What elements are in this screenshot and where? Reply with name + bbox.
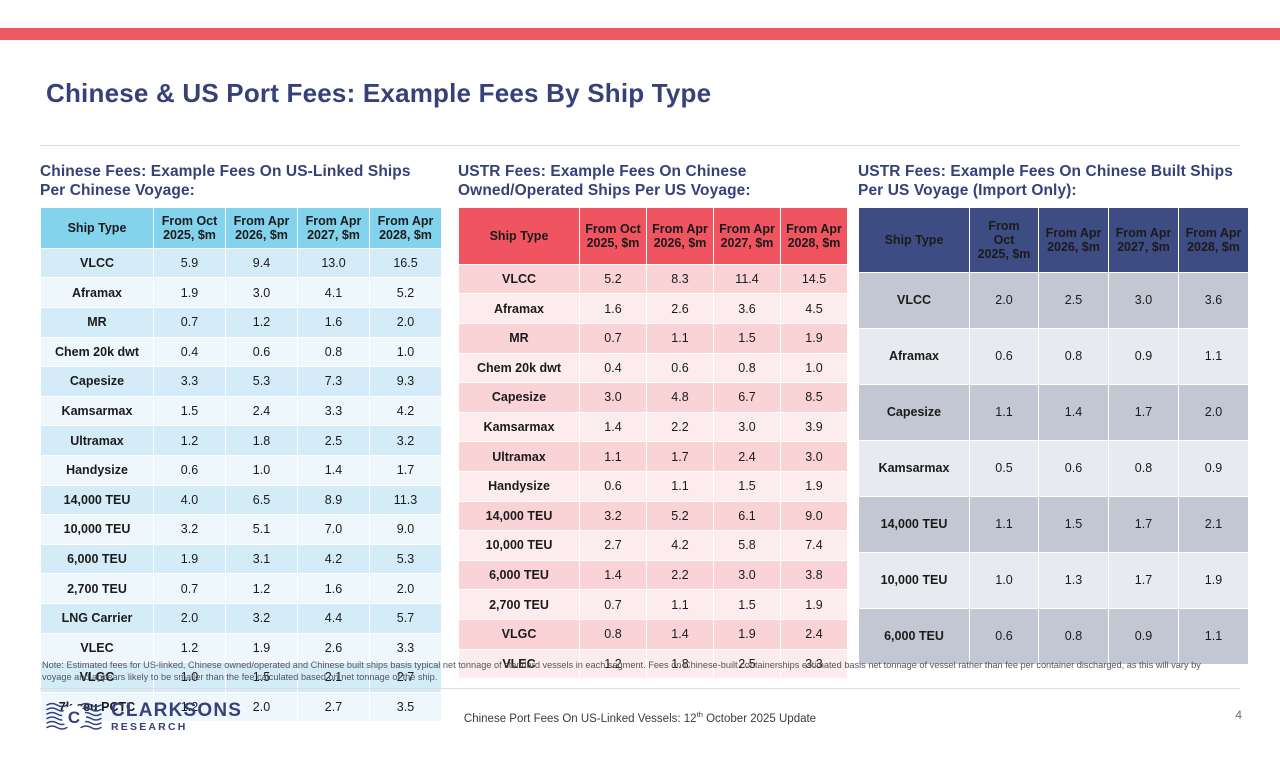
table-heading-chinese-fees: Chinese Fees: Example Fees On US-Linked … xyxy=(40,163,438,201)
cell-fee-0: 0.8 xyxy=(580,620,646,649)
top-accent-bar xyxy=(0,28,1280,40)
cell-fee-2: 3.3 xyxy=(298,397,369,426)
cell-fee-0: 0.7 xyxy=(154,574,225,603)
table-ustr-chinese-built: Ship TypeFromOct2025, $mFrom Apr2026, $m… xyxy=(858,207,1249,665)
cell-ship-type: Kamsarmax xyxy=(859,441,969,496)
table-row: 6,000 TEU1.42.23.03.8 xyxy=(459,561,847,590)
cell-fee-3: 3.2 xyxy=(370,426,441,455)
table-block-ustr-chinese-built: USTR Fees: Example Fees On Chinese Built… xyxy=(858,163,1249,665)
cell-fee-0: 2.0 xyxy=(154,604,225,633)
cell-fee-2: 3.0 xyxy=(714,561,780,590)
cell-fee-2: 3.0 xyxy=(1109,273,1178,328)
cell-fee-1: 0.8 xyxy=(1039,609,1108,664)
column-header-2: From Apr2026, $m xyxy=(1039,208,1108,272)
cell-fee-1: 1.0 xyxy=(226,456,297,485)
table-row: LNG Carrier2.03.24.45.7 xyxy=(41,604,441,633)
column-header-3: From Apr2027, $m xyxy=(298,208,369,248)
table-block-chinese-fees: Chinese Fees: Example Fees On US-Linked … xyxy=(40,163,438,722)
column-header-0: Ship Type xyxy=(459,208,579,264)
cell-ship-type: Kamsarmax xyxy=(41,397,153,426)
table-row: 14,000 TEU1.11.51.72.1 xyxy=(859,497,1248,552)
table-row: VLCC5.99.413.016.5 xyxy=(41,249,441,278)
table-chinese-fees: Ship TypeFrom Oct2025, $mFrom Apr2026, $… xyxy=(40,207,442,723)
cell-ship-type: MR xyxy=(41,308,153,337)
cell-ship-type: LNG Carrier xyxy=(41,604,153,633)
cell-fee-3: 3.6 xyxy=(1179,273,1248,328)
table-row: MR0.71.21.62.0 xyxy=(41,308,441,337)
cell-fee-2: 1.7 xyxy=(1109,497,1178,552)
table-row: MR0.71.11.51.9 xyxy=(459,324,847,353)
cell-ship-type: Ultramax xyxy=(459,442,579,471)
table-header-row: Ship TypeFrom Oct2025, $mFrom Apr2026, $… xyxy=(41,208,441,248)
cell-ship-type: MR xyxy=(459,324,579,353)
cell-fee-0: 1.1 xyxy=(580,442,646,471)
cell-fee-0: 1.6 xyxy=(580,294,646,323)
cell-ship-type: Aframax xyxy=(459,294,579,323)
cell-fee-3: 3.0 xyxy=(781,442,847,471)
table-row: Handysize0.61.11.51.9 xyxy=(459,472,847,501)
cell-fee-2: 2.6 xyxy=(298,634,369,663)
cell-fee-1: 4.8 xyxy=(647,383,713,412)
table-row: 2,700 TEU0.71.21.62.0 xyxy=(41,574,441,603)
cell-ship-type: VLGC xyxy=(459,620,579,649)
table-heading-ustr-owned-operated: USTR Fees: Example Fees On Chinese Owned… xyxy=(458,163,846,201)
column-header-4: From Apr2028, $m xyxy=(781,208,847,264)
cell-fee-2: 0.9 xyxy=(1109,609,1178,664)
cell-fee-0: 0.4 xyxy=(580,354,646,383)
cell-fee-2: 1.5 xyxy=(714,472,780,501)
table-body: VLCC5.99.413.016.5Aframax1.93.04.15.2MR0… xyxy=(41,249,441,722)
table-body: VLCC5.28.311.414.5Aframax1.62.63.64.5MR0… xyxy=(459,265,847,678)
cell-fee-1: 1.9 xyxy=(226,634,297,663)
cell-fee-1: 2.2 xyxy=(647,561,713,590)
cell-ship-type: Handysize xyxy=(41,456,153,485)
column-header-1: FromOct2025, $m xyxy=(970,208,1038,272)
cell-fee-0: 0.5 xyxy=(970,441,1038,496)
table-ustr-owned-operated: Ship TypeFrom Oct2025, $mFrom Apr2026, $… xyxy=(458,207,848,679)
cell-fee-1: 1.4 xyxy=(647,620,713,649)
cell-fee-0: 4.0 xyxy=(154,486,225,515)
column-header-1: From Oct2025, $m xyxy=(154,208,225,248)
table-row: Chem 20k dwt0.40.60.81.0 xyxy=(41,338,441,367)
cell-ship-type: VLEC xyxy=(41,634,153,663)
cell-fee-0: 0.7 xyxy=(580,590,646,619)
cell-fee-1: 5.1 xyxy=(226,515,297,544)
table-row: Aframax1.62.63.64.5 xyxy=(459,294,847,323)
cell-fee-3: 1.7 xyxy=(370,456,441,485)
cell-fee-3: 9.3 xyxy=(370,367,441,396)
column-header-3: From Apr2027, $m xyxy=(1109,208,1178,272)
cell-fee-3: 2.0 xyxy=(370,574,441,603)
column-header-1: From Oct2025, $m xyxy=(580,208,646,264)
table-header-row: Ship TypeFromOct2025, $mFrom Apr2026, $m… xyxy=(859,208,1248,272)
cell-fee-1: 4.2 xyxy=(647,531,713,560)
table-row: Aframax0.60.80.91.1 xyxy=(859,329,1248,384)
cell-fee-0: 0.6 xyxy=(580,472,646,501)
cell-ship-type: Aframax xyxy=(41,278,153,307)
cell-fee-0: 1.1 xyxy=(970,385,1038,440)
cell-fee-1: 0.6 xyxy=(647,354,713,383)
cell-fee-3: 1.1 xyxy=(1179,329,1248,384)
cell-fee-0: 5.2 xyxy=(580,265,646,294)
cell-ship-type: 10,000 TEU xyxy=(41,515,153,544)
table-row: 10,000 TEU2.74.25.87.4 xyxy=(459,531,847,560)
table-row: 6,000 TEU0.60.80.91.1 xyxy=(859,609,1248,664)
cell-fee-3: 9.0 xyxy=(781,502,847,531)
cell-fee-3: 4.5 xyxy=(781,294,847,323)
cell-fee-3: 3.9 xyxy=(781,413,847,442)
footer-caption-pre: Chinese Port Fees On US-Linked Vessels: … xyxy=(464,713,697,725)
cell-fee-2: 1.5 xyxy=(714,324,780,353)
cell-fee-2: 3.6 xyxy=(714,294,780,323)
title-divider xyxy=(40,145,1240,146)
cell-fee-1: 1.3 xyxy=(1039,553,1108,608)
cell-fee-1: 2.5 xyxy=(1039,273,1108,328)
tables-container: Chinese Fees: Example Fees On US-Linked … xyxy=(40,163,1245,663)
cell-ship-type: 14,000 TEU xyxy=(41,486,153,515)
cell-fee-1: 1.1 xyxy=(647,472,713,501)
cell-fee-0: 1.5 xyxy=(154,397,225,426)
footer-caption-post: October 2025 Update xyxy=(703,713,816,725)
footnote: Note: Estimated fees for US-linked, Chin… xyxy=(42,659,1222,684)
cell-fee-1: 1.1 xyxy=(647,324,713,353)
cell-fee-3: 11.3 xyxy=(370,486,441,515)
cell-fee-3: 2.4 xyxy=(781,620,847,649)
footer-divider xyxy=(40,688,1240,689)
table-row: Capesize1.11.41.72.0 xyxy=(859,385,1248,440)
cell-ship-type: Capesize xyxy=(859,385,969,440)
cell-fee-2: 4.2 xyxy=(298,545,369,574)
page-title: Chinese & US Port Fees: Example Fees By … xyxy=(46,78,711,109)
table-row: VLCC2.02.53.03.6 xyxy=(859,273,1248,328)
cell-ship-type: 14,000 TEU xyxy=(459,502,579,531)
cell-fee-0: 3.2 xyxy=(154,515,225,544)
cell-ship-type: Chem 20k dwt xyxy=(41,338,153,367)
cell-fee-1: 3.0 xyxy=(226,278,297,307)
cell-ship-type: Aframax xyxy=(859,329,969,384)
cell-fee-3: 1.9 xyxy=(781,324,847,353)
cell-fee-2: 4.4 xyxy=(298,604,369,633)
cell-fee-3: 2.1 xyxy=(1179,497,1248,552)
cell-fee-2: 3.0 xyxy=(714,413,780,442)
table-row: Chem 20k dwt0.40.60.81.0 xyxy=(459,354,847,383)
cell-fee-1: 5.2 xyxy=(647,502,713,531)
cell-fee-2: 5.8 xyxy=(714,531,780,560)
cell-fee-2: 0.8 xyxy=(714,354,780,383)
table-row: Kamsarmax1.52.43.34.2 xyxy=(41,397,441,426)
table-row: Capesize3.04.86.78.5 xyxy=(459,383,847,412)
cell-ship-type: Chem 20k dwt xyxy=(459,354,579,383)
cell-fee-1: 3.1 xyxy=(226,545,297,574)
cell-fee-1: 1.1 xyxy=(647,590,713,619)
cell-fee-0: 1.0 xyxy=(970,553,1038,608)
table-row: 6,000 TEU1.93.14.25.3 xyxy=(41,545,441,574)
table-block-ustr-owned-operated: USTR Fees: Example Fees On Chinese Owned… xyxy=(458,163,846,679)
cell-fee-0: 0.6 xyxy=(970,329,1038,384)
cell-fee-0: 5.9 xyxy=(154,249,225,278)
cell-fee-1: 1.4 xyxy=(1039,385,1108,440)
column-header-0: Ship Type xyxy=(41,208,153,248)
cell-fee-0: 1.9 xyxy=(154,278,225,307)
cell-fee-3: 7.4 xyxy=(781,531,847,560)
cell-fee-3: 3.8 xyxy=(781,561,847,590)
cell-fee-0: 1.2 xyxy=(154,426,225,455)
cell-fee-0: 1.9 xyxy=(154,545,225,574)
cell-fee-2: 8.9 xyxy=(298,486,369,515)
cell-ship-type: 6,000 TEU xyxy=(859,609,969,664)
table-row: Kamsarmax1.42.23.03.9 xyxy=(459,413,847,442)
table-row: 14,000 TEU4.06.58.911.3 xyxy=(41,486,441,515)
cell-fee-2: 6.7 xyxy=(714,383,780,412)
cell-fee-2: 1.6 xyxy=(298,574,369,603)
cell-ship-type: 6,000 TEU xyxy=(41,545,153,574)
cell-fee-2: 1.4 xyxy=(298,456,369,485)
cell-fee-2: 0.8 xyxy=(1109,441,1178,496)
slide: Chinese & US Port Fees: Example Fees By … xyxy=(0,0,1280,777)
cell-fee-0: 1.1 xyxy=(970,497,1038,552)
cell-fee-3: 8.5 xyxy=(781,383,847,412)
cell-fee-1: 1.7 xyxy=(647,442,713,471)
cell-fee-1: 6.5 xyxy=(226,486,297,515)
table-row: Ultramax1.21.82.53.2 xyxy=(41,426,441,455)
cell-fee-0: 3.3 xyxy=(154,367,225,396)
column-header-2: From Apr2026, $m xyxy=(226,208,297,248)
cell-fee-2: 4.1 xyxy=(298,278,369,307)
table-row: VLCC5.28.311.414.5 xyxy=(459,265,847,294)
cell-fee-0: 3.2 xyxy=(580,502,646,531)
cell-fee-3: 1.0 xyxy=(781,354,847,383)
cell-fee-2: 1.9 xyxy=(714,620,780,649)
cell-fee-1: 8.3 xyxy=(647,265,713,294)
cell-fee-0: 1.4 xyxy=(580,561,646,590)
cell-fee-3: 5.7 xyxy=(370,604,441,633)
cell-fee-3: 2.0 xyxy=(370,308,441,337)
cell-ship-type: VLCC xyxy=(41,249,153,278)
column-header-2: From Apr2026, $m xyxy=(647,208,713,264)
table-body: VLCC2.02.53.03.6Aframax0.60.80.91.1Capes… xyxy=(859,273,1248,664)
footer-caption: Chinese Port Fees On US-Linked Vessels: … xyxy=(0,710,1280,725)
column-header-0: Ship Type xyxy=(859,208,969,272)
cell-ship-type: 2,700 TEU xyxy=(459,590,579,619)
cell-ship-type: Capesize xyxy=(459,383,579,412)
cell-fee-1: 3.2 xyxy=(226,604,297,633)
cell-fee-3: 16.5 xyxy=(370,249,441,278)
table-row: Handysize0.61.01.41.7 xyxy=(41,456,441,485)
cell-fee-1: 1.2 xyxy=(226,574,297,603)
cell-fee-0: 2.0 xyxy=(970,273,1038,328)
cell-fee-0: 0.6 xyxy=(154,456,225,485)
cell-fee-2: 1.6 xyxy=(298,308,369,337)
cell-ship-type: Capesize xyxy=(41,367,153,396)
cell-fee-2: 6.1 xyxy=(714,502,780,531)
column-header-4: From Apr2028, $m xyxy=(370,208,441,248)
page-number: 4 xyxy=(1235,708,1242,722)
cell-fee-0: 0.6 xyxy=(970,609,1038,664)
cell-ship-type: 2,700 TEU xyxy=(41,574,153,603)
cell-fee-1: 2.2 xyxy=(647,413,713,442)
cell-fee-2: 2.5 xyxy=(298,426,369,455)
table-heading-ustr-chinese-built: USTR Fees: Example Fees On Chinese Built… xyxy=(858,163,1249,201)
cell-ship-type: 10,000 TEU xyxy=(859,553,969,608)
cell-ship-type: Ultramax xyxy=(41,426,153,455)
cell-fee-3: 0.9 xyxy=(1179,441,1248,496)
cell-fee-2: 0.8 xyxy=(298,338,369,367)
cell-fee-1: 1.5 xyxy=(1039,497,1108,552)
cell-fee-2: 0.9 xyxy=(1109,329,1178,384)
cell-ship-type: VLCC xyxy=(459,265,579,294)
cell-fee-2: 1.5 xyxy=(714,590,780,619)
column-header-3: From Apr2027, $m xyxy=(714,208,780,264)
cell-fee-0: 2.7 xyxy=(580,531,646,560)
cell-fee-3: 1.9 xyxy=(781,590,847,619)
cell-fee-0: 0.4 xyxy=(154,338,225,367)
table-row: VLGC0.81.41.92.4 xyxy=(459,620,847,649)
cell-fee-1: 0.6 xyxy=(1039,441,1108,496)
cell-ship-type: Kamsarmax xyxy=(459,413,579,442)
cell-fee-3: 9.0 xyxy=(370,515,441,544)
cell-fee-3: 1.0 xyxy=(370,338,441,367)
column-header-4: From Apr2028, $m xyxy=(1179,208,1248,272)
table-row: 2,700 TEU0.71.11.51.9 xyxy=(459,590,847,619)
table-row: Aframax1.93.04.15.2 xyxy=(41,278,441,307)
cell-fee-3: 4.2 xyxy=(370,397,441,426)
cell-fee-1: 0.6 xyxy=(226,338,297,367)
cell-fee-1: 2.6 xyxy=(647,294,713,323)
cell-fee-1: 9.4 xyxy=(226,249,297,278)
cell-fee-1: 5.3 xyxy=(226,367,297,396)
cell-ship-type: VLCC xyxy=(859,273,969,328)
cell-fee-3: 5.3 xyxy=(370,545,441,574)
cell-fee-0: 0.7 xyxy=(580,324,646,353)
cell-ship-type: 10,000 TEU xyxy=(459,531,579,560)
table-row: VLEC1.21.92.63.3 xyxy=(41,634,441,663)
cell-fee-3: 1.9 xyxy=(781,472,847,501)
cell-fee-3: 5.2 xyxy=(370,278,441,307)
cell-fee-0: 3.0 xyxy=(580,383,646,412)
table-row: Capesize3.35.37.39.3 xyxy=(41,367,441,396)
cell-fee-2: 7.0 xyxy=(298,515,369,544)
cell-fee-2: 1.7 xyxy=(1109,553,1178,608)
cell-ship-type: 14,000 TEU xyxy=(859,497,969,552)
cell-fee-2: 2.4 xyxy=(714,442,780,471)
cell-ship-type: 6,000 TEU xyxy=(459,561,579,590)
cell-fee-1: 1.2 xyxy=(226,308,297,337)
cell-fee-3: 3.3 xyxy=(370,634,441,663)
cell-fee-0: 0.7 xyxy=(154,308,225,337)
cell-fee-2: 1.7 xyxy=(1109,385,1178,440)
cell-fee-0: 1.4 xyxy=(580,413,646,442)
table-row: Ultramax1.11.72.43.0 xyxy=(459,442,847,471)
cell-ship-type: Handysize xyxy=(459,472,579,501)
cell-fee-2: 7.3 xyxy=(298,367,369,396)
cell-fee-2: 11.4 xyxy=(714,265,780,294)
cell-fee-0: 1.2 xyxy=(154,634,225,663)
cell-fee-2: 13.0 xyxy=(298,249,369,278)
cell-fee-1: 1.8 xyxy=(226,426,297,455)
table-row: Kamsarmax0.50.60.80.9 xyxy=(859,441,1248,496)
table-row: 10,000 TEU1.01.31.71.9 xyxy=(859,553,1248,608)
cell-fee-3: 1.9 xyxy=(1179,553,1248,608)
cell-fee-3: 14.5 xyxy=(781,265,847,294)
cell-fee-3: 1.1 xyxy=(1179,609,1248,664)
table-header-row: Ship TypeFrom Oct2025, $mFrom Apr2026, $… xyxy=(459,208,847,264)
table-row: 10,000 TEU3.25.17.09.0 xyxy=(41,515,441,544)
table-row: 14,000 TEU3.25.26.19.0 xyxy=(459,502,847,531)
cell-fee-1: 0.8 xyxy=(1039,329,1108,384)
cell-fee-1: 2.4 xyxy=(226,397,297,426)
cell-fee-3: 2.0 xyxy=(1179,385,1248,440)
